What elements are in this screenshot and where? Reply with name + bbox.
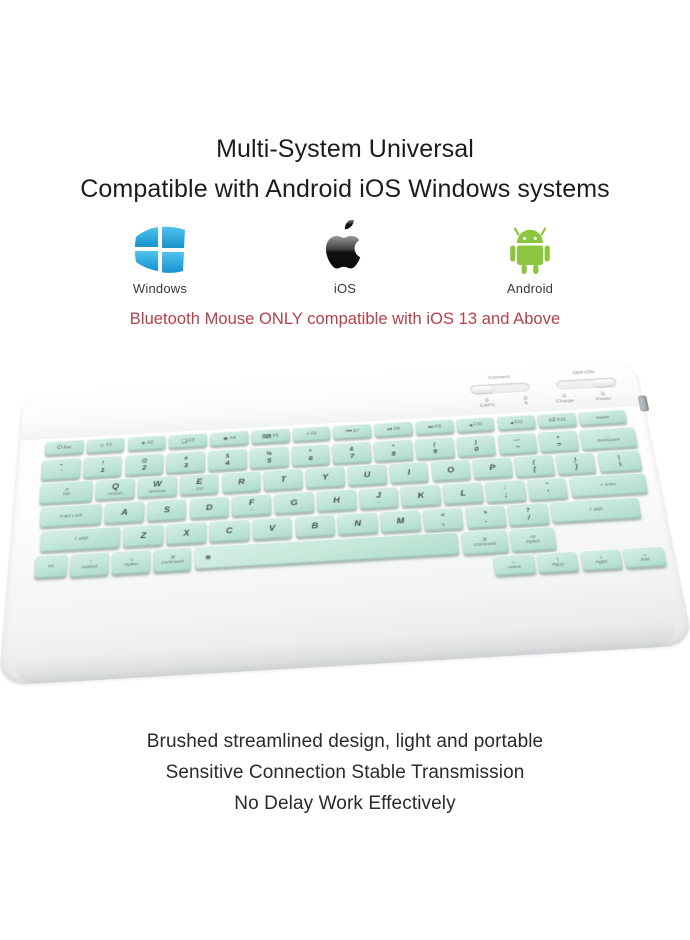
key-h[interactable]: H	[316, 489, 356, 512]
fn-glyph-icon: ⏻	[57, 444, 62, 451]
led-dot-icon	[601, 391, 606, 395]
key-[interactable]: |\	[596, 449, 642, 472]
key-1[interactable]: !1	[83, 455, 122, 478]
feature-line-1: Brushed streamlined design, light and po…	[0, 726, 690, 757]
fn-key-label: F5	[273, 433, 279, 438]
fn-key-label: F6	[311, 431, 317, 436]
key-base-label: '	[547, 489, 550, 496]
key-o[interactable]: O	[430, 459, 471, 481]
key-label: Caps Lock	[60, 512, 82, 518]
fn-key-label: F11	[514, 419, 523, 424]
led-label-power: Power	[586, 396, 622, 403]
key-a[interactable]: A	[104, 501, 144, 524]
headline-block: Multi-System Universal Compatible with A…	[0, 132, 690, 206]
key-w[interactable]: WWindows	[138, 475, 177, 497]
key-label: Option	[124, 562, 138, 567]
power-switch[interactable]	[556, 377, 617, 390]
led-dot-icon	[562, 393, 567, 397]
key-r[interactable]: R	[222, 471, 261, 493]
key-pgdn[interactable]: ↓PgDn	[580, 548, 624, 570]
key-q[interactable]: QAndroid	[95, 478, 135, 500]
os-item-windows: Windows	[95, 218, 225, 296]
keyboard-body: Connect OFF/ON CAPS ␢ Charge	[0, 362, 690, 686]
arrow-key-label: PgUp	[552, 563, 565, 568]
key-label: ⇧ Shift	[588, 507, 603, 513]
key-8[interactable]: *8	[373, 439, 413, 462]
headline-line-1: Multi-System Universal	[0, 132, 690, 166]
arrow-key-label: End	[641, 558, 650, 563]
key-label: R	[238, 477, 245, 486]
fn-key-label: F8	[394, 426, 400, 431]
led-label-charge: Charge	[547, 398, 583, 405]
key-space[interactable]	[195, 532, 460, 569]
key-base-label: =	[556, 441, 561, 448]
connect-nub	[471, 385, 493, 393]
arrow-glyph-icon: ←	[510, 560, 517, 566]
key-base-label: 6	[308, 455, 313, 462]
key-modifier-glyph-icon: ⌥	[128, 558, 134, 563]
key-[interactable]: {[	[513, 454, 555, 477]
key-shift-label: >	[483, 510, 487, 516]
key-i[interactable]: I	[389, 461, 429, 483]
key-0[interactable]: )0	[456, 434, 497, 457]
key-label: Option	[526, 539, 541, 544]
fn-glyph-icon: ὑ2	[548, 417, 556, 423]
key-sublabel: iOS	[196, 486, 203, 491]
key-f11[interactable]: ◂F11	[496, 414, 536, 430]
key-label: Q	[112, 482, 119, 491]
os-item-android: Android	[465, 218, 595, 296]
headline-line-2: Compatible with Android iOS Windows syst…	[0, 172, 690, 206]
key-[interactable]: ~`	[41, 457, 81, 480]
key-g[interactable]: G	[274, 491, 314, 514]
key-sublabel: Android	[108, 491, 123, 496]
os-label-windows: Windows	[95, 281, 225, 296]
arrow-glyph-icon: ↑	[555, 557, 559, 563]
key-j[interactable]: J—	[358, 486, 399, 509]
key-[interactable]: —–	[497, 432, 538, 455]
key-f3[interactable]: ❑F3	[169, 433, 207, 449]
key-base-label: ]	[575, 463, 579, 470]
feature-text-block: Brushed streamlined design, light and po…	[0, 726, 690, 819]
fn-glyph-icon: ◂	[468, 421, 472, 428]
fn-key-label: F7	[353, 429, 359, 434]
fn-key-label: Esc	[63, 445, 72, 450]
key-label: B	[311, 521, 318, 530]
key-f7[interactable]: ⏮F7	[333, 423, 372, 439]
key-pgup[interactable]: ↑PgUp	[536, 551, 579, 573]
charging-port-icon	[638, 395, 650, 411]
feature-line-3: No Delay Work Effectively	[0, 788, 690, 819]
key-f10[interactable]: ◂F10	[456, 417, 496, 433]
key-base-label: 3	[184, 462, 188, 469]
key-[interactable]: :;	[485, 479, 527, 502]
fn-glyph-icon: ☼	[99, 442, 105, 448]
key-label: Command	[161, 559, 183, 565]
led-bluetooth: ␢	[508, 395, 545, 411]
key-base-label: 5	[267, 457, 271, 464]
key-[interactable]: +=	[538, 430, 579, 453]
key-label: P	[489, 463, 496, 472]
fn-glyph-icon: ♪	[306, 431, 309, 437]
fn-key-label: F3	[189, 438, 195, 443]
fn-key-label: F9	[435, 424, 441, 429]
key-f2[interactable]: ☀F2	[128, 435, 166, 451]
led-caps: CAPS	[469, 397, 506, 413]
fn-glyph-icon: ☀	[140, 440, 146, 447]
key-option[interactable]: ⌥Option	[111, 549, 150, 575]
led-label-bluetooth: ␢	[509, 400, 545, 407]
key-s[interactable]: S	[147, 498, 187, 521]
key-f9[interactable]: ⏭F9	[415, 419, 454, 435]
key-label: T	[280, 475, 286, 484]
key-label: E	[196, 477, 202, 486]
key-base-label: 1	[100, 466, 105, 473]
key-label: W	[153, 480, 162, 489]
key-label: D	[206, 503, 213, 512]
android-robot-icon	[465, 218, 595, 274]
key-label: S	[164, 505, 170, 514]
key-t[interactable]: T	[264, 468, 303, 490]
key-backspace[interactable]: ←Backspace	[579, 427, 638, 450]
key-base-label: ;	[504, 491, 507, 498]
key-k[interactable]: K	[401, 484, 442, 507]
windows-logo-icon	[95, 218, 225, 274]
key-2[interactable]: @2	[125, 453, 164, 476]
key-p[interactable]: P	[472, 456, 513, 478]
fn-glyph-icon: ❖	[223, 435, 229, 442]
key-label: Control	[82, 564, 98, 569]
key-home[interactable]: ←Home	[493, 553, 536, 575]
key-d[interactable]: D	[190, 496, 229, 519]
key-label: ⇧ Shift	[73, 536, 88, 542]
os-label-ios: iOS	[280, 281, 410, 296]
key-base-label: \	[618, 461, 621, 468]
led-dot-icon	[485, 398, 489, 402]
arrow-glyph-icon: ↓	[599, 555, 603, 561]
key-l[interactable]: L	[443, 482, 484, 505]
led-power: Power	[585, 390, 622, 406]
key-label: J	[376, 491, 382, 500]
key-3[interactable]: #3	[167, 451, 206, 474]
compatibility-notice: Bluetooth Mouse ONLY compatible with iOS…	[0, 310, 690, 329]
fn-key-label: F12	[557, 417, 566, 422]
key-[interactable]: >.	[465, 504, 507, 528]
feature-line-2: Sensitive Connection Stable Transmission	[0, 757, 690, 788]
key-f4[interactable]: ❖F4	[210, 430, 248, 446]
fn-key-label: F4	[230, 435, 236, 440]
os-item-ios: iOS	[280, 218, 410, 296]
key-f6[interactable]: ♪F6	[292, 426, 331, 442]
key-base-label: 2	[142, 464, 146, 471]
key-label: Y	[322, 473, 329, 482]
key-control[interactable]: ⌃Control	[70, 552, 109, 578]
key-base-label: 7	[350, 452, 355, 459]
arrow-glyph-icon: →	[641, 552, 649, 558]
key-option[interactable]: AltOption	[509, 526, 556, 552]
key-esc[interactable]: ⏻Esc	[45, 439, 84, 455]
key-9[interactable]: (9	[415, 437, 455, 460]
key-f12[interactable]: ὑ2F12	[537, 412, 577, 428]
key-base-label: 8	[391, 450, 396, 457]
key-modifier-glyph-icon: ⌘	[482, 538, 487, 543]
key-label: I	[407, 468, 410, 477]
key-label: F	[249, 498, 255, 507]
key-sublabel: Windows	[149, 488, 166, 493]
key-modifier-glyph-icon: ⌘	[170, 556, 175, 561]
apple-logo-icon	[280, 218, 410, 274]
key-label: O	[447, 466, 455, 475]
fn-glyph-icon: ◂	[509, 419, 513, 426]
key-label: ↵ Enter	[599, 482, 616, 488]
key-label: Command	[474, 542, 496, 548]
fn-glyph-icon: ⌨	[262, 433, 271, 440]
fn-key-label: F2	[147, 440, 153, 445]
os-compatibility-row: Windows iOS	[95, 218, 595, 296]
os-label-android: Android	[465, 281, 595, 296]
key-base-label: 9	[433, 448, 438, 455]
space-indicator-dot	[205, 555, 210, 560]
connect-button[interactable]	[469, 382, 530, 395]
key-label: Fn	[48, 564, 54, 569]
arrow-key-label: PgDn	[595, 560, 608, 565]
key--shift[interactable]: ⇧ Shift	[550, 497, 642, 523]
key-u[interactable]: U	[347, 464, 387, 486]
key-modifier-glyph-icon: Alt	[529, 535, 535, 540]
keyboard-product-image: Connect OFF/ON CAPS ␢ Charge	[18, 348, 678, 708]
key-f5[interactable]: ⌨F5	[251, 428, 289, 444]
power-nub	[593, 379, 615, 387]
key-label: H	[333, 496, 340, 505]
fn-glyph-icon: ⏯	[387, 426, 393, 433]
key-sublabel: —	[377, 500, 382, 505]
led-label-caps: CAPS	[470, 402, 506, 409]
key-label: Delete	[596, 415, 610, 420]
arrow-key-label: Home	[508, 565, 521, 570]
key-base-label: `	[59, 469, 62, 476]
fn-key-label: F1	[106, 442, 112, 447]
key-7[interactable]: &7	[332, 441, 372, 464]
key-command[interactable]: ⌘Command	[153, 547, 191, 573]
fn-glyph-icon: ❑	[182, 437, 188, 444]
key-base-label: 0	[474, 445, 479, 452]
fn-glyph-icon: ⏮	[346, 428, 352, 435]
key-command[interactable]: ⌘Command	[460, 529, 509, 555]
key-modifier-glyph-icon: ⌃	[88, 560, 92, 565]
key-6[interactable]: ^6	[291, 444, 330, 467]
key-e[interactable]: EiOS	[180, 473, 219, 495]
key-delete[interactable]: Delete	[578, 409, 628, 425]
key-fn[interactable]: Fn	[34, 554, 68, 578]
key-label: A	[121, 508, 128, 517]
key-tab[interactable]: ⇄Tab	[39, 480, 93, 504]
key-f[interactable]: F—	[232, 494, 272, 517]
key--enter[interactable]: ↵ Enter	[568, 472, 647, 497]
fn-key-label: F10	[473, 422, 482, 427]
key-[interactable]: "'	[527, 477, 569, 500]
key-base-label: –	[515, 443, 520, 450]
key-label: Tab	[62, 492, 70, 497]
led-charge: Charge	[546, 393, 583, 409]
key-5[interactable]: %5	[250, 446, 289, 469]
fn-glyph-icon: ⏭	[428, 424, 434, 431]
key-4[interactable]: $4	[208, 448, 247, 471]
key-label: Backspace	[597, 438, 620, 443]
keyboard-row-arrow-row: ←Home↑PgUp↓PgDn→End	[493, 546, 667, 575]
key-caps-lock[interactable]: Caps Lock	[40, 503, 102, 527]
key-label: G	[290, 498, 297, 507]
key-[interactable]: }]	[555, 452, 597, 475]
led-dot-icon	[523, 396, 527, 400]
key-base-label: [	[533, 466, 537, 473]
key-y[interactable]: Y	[305, 466, 345, 488]
key-label: L	[460, 489, 467, 498]
key-label: K	[417, 491, 424, 500]
key-base-label: 4	[225, 459, 229, 466]
key-label: U	[364, 470, 371, 479]
key-f8[interactable]: ⏯F8	[374, 421, 413, 437]
key-f1[interactable]: ☼F1	[86, 437, 125, 453]
key-sublabel: —	[250, 507, 254, 512]
